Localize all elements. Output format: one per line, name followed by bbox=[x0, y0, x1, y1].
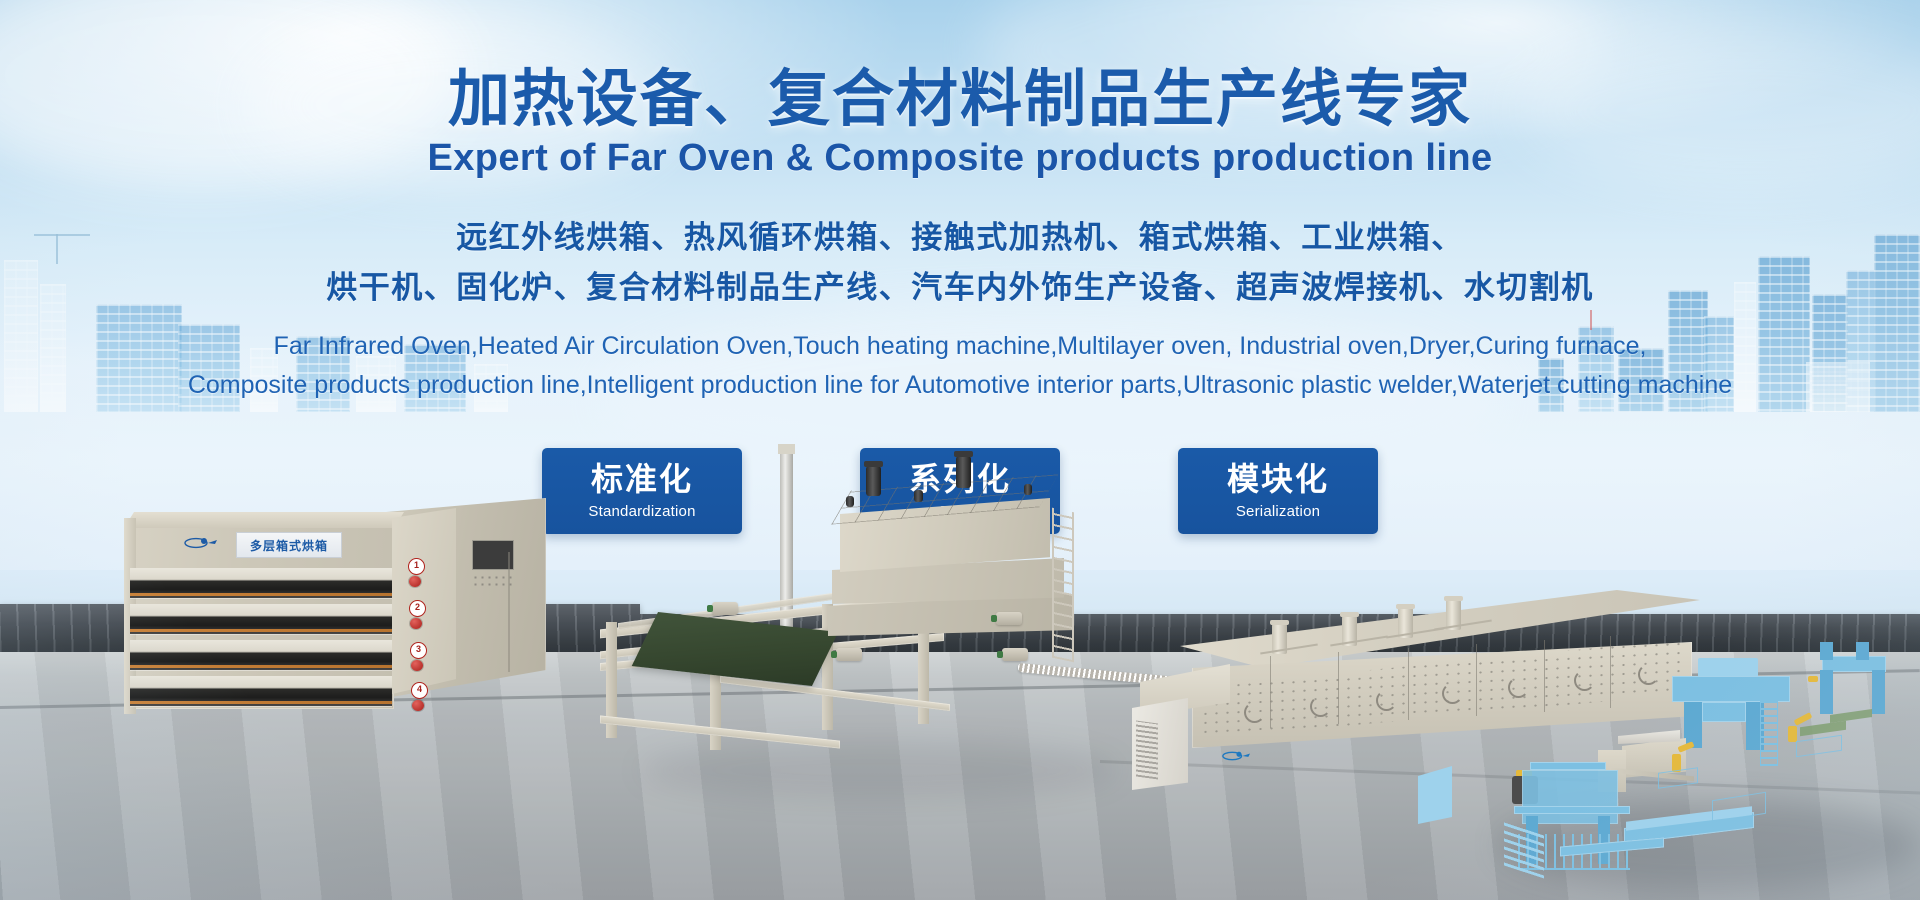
product-list-cn-line-2: 烘干机、固化炉、复合材料制品生产线、汽车内外饰生产设备、超声波焊接机、水切割机 bbox=[0, 264, 1920, 314]
product-list-english: Far Infrared Oven,Heated Air Circulation… bbox=[0, 327, 1920, 405]
gantry-post bbox=[1856, 642, 1869, 660]
press-bolt bbox=[914, 490, 923, 502]
green-conveyor-belt bbox=[632, 612, 839, 686]
press-column-cap bbox=[778, 444, 795, 454]
press-cylinder-cap bbox=[864, 461, 883, 467]
panel-divider bbox=[1476, 644, 1477, 716]
banner-text-block: 加热设备、复合材料制品生产线专家 Expert of Far Oven & Co… bbox=[0, 0, 1920, 405]
pallet-green bbox=[1800, 721, 1846, 736]
oven-knob-4[interactable] bbox=[412, 700, 424, 711]
press-and-conveyor-line bbox=[600, 452, 1120, 752]
badge-label-cn: 模块化 bbox=[1227, 462, 1329, 497]
oven-knob-1[interactable] bbox=[409, 576, 421, 587]
blue-press-crossbeam bbox=[1702, 702, 1746, 722]
brand-logo-icon bbox=[184, 536, 224, 550]
product-list-cn-line-1: 远红外线烘箱、热风循环烘箱、接触式加热机、箱式烘箱、工业烘箱、 bbox=[0, 214, 1920, 264]
oven-top-panel bbox=[124, 512, 404, 528]
oven-tray-slot bbox=[130, 676, 392, 706]
robot-arm-link bbox=[1808, 676, 1818, 682]
cabinet-grill bbox=[1136, 720, 1158, 779]
multilayer-box-oven: 多层箱式烘箱 1 2 3 4 bbox=[124, 512, 544, 722]
stair-tower bbox=[1760, 682, 1778, 766]
inspection-port bbox=[1376, 690, 1397, 711]
product-list-en-line-2: Composite products production line,Intel… bbox=[0, 366, 1920, 405]
oven-vent-holes bbox=[472, 574, 512, 588]
blue-staircase bbox=[1504, 820, 1544, 879]
oven-nameplate: 多层箱式烘箱 bbox=[236, 532, 342, 558]
robot-arm-link bbox=[1794, 712, 1813, 726]
oven-door-edge bbox=[508, 552, 510, 672]
headline-chinese: 加热设备、复合材料制品生产线专家 bbox=[0, 66, 1920, 131]
brand-logo-icon bbox=[1222, 750, 1256, 762]
hero-banner: 加热设备、复合材料制品生产线专家 Expert of Far Oven & Co… bbox=[0, 0, 1920, 900]
frame-bottom-rail bbox=[720, 676, 950, 711]
oven-knob-number-2: 2 bbox=[409, 600, 426, 617]
pallet-green bbox=[1830, 709, 1872, 723]
automation-line-blue bbox=[1500, 620, 1920, 900]
oven-tray-slot bbox=[130, 640, 392, 670]
drive-motor bbox=[836, 648, 862, 661]
drive-motor bbox=[712, 602, 738, 615]
press-cylinder-cap bbox=[954, 451, 973, 457]
wire-frame-fixture bbox=[1796, 735, 1842, 757]
oven-control-column bbox=[392, 508, 456, 694]
oven-tray-slot bbox=[130, 604, 392, 634]
inspection-port bbox=[1244, 702, 1265, 723]
inspection-port bbox=[1442, 683, 1463, 704]
oven-knob-number-4: 4 bbox=[411, 682, 428, 699]
wire-frame-fixture bbox=[1712, 792, 1766, 823]
oven-knob-number-1: 1 bbox=[408, 558, 425, 575]
oven-knob-3[interactable] bbox=[411, 660, 423, 671]
press-cylinder bbox=[866, 466, 881, 496]
drive-motor bbox=[1002, 648, 1028, 661]
badge-serialization[interactable]: 模块化 Serialization bbox=[1178, 448, 1378, 534]
gantry-post bbox=[1820, 642, 1833, 660]
product-list-en-line-1: Far Infrared Oven,Heated Air Circulation… bbox=[0, 327, 1920, 366]
blue-platform-rail bbox=[1514, 806, 1630, 814]
panel-divider bbox=[1338, 652, 1339, 724]
press-bolt bbox=[846, 496, 854, 507]
oven-tray-slot bbox=[130, 568, 392, 598]
blue-platform-deck bbox=[1530, 762, 1606, 770]
press-cylinder bbox=[956, 456, 971, 488]
gantry-leg bbox=[1820, 670, 1833, 714]
product-list-chinese: 远红外线烘箱、热风循环烘箱、接触式加热机、箱式烘箱、工业烘箱、 烘干机、固化炉、… bbox=[0, 214, 1920, 313]
oven-nameplate-text: 多层箱式烘箱 bbox=[250, 537, 328, 554]
panel-divider bbox=[1270, 656, 1271, 728]
headline-english: Expert of Far Oven & Composite products … bbox=[0, 137, 1920, 180]
inspection-port bbox=[1310, 696, 1331, 717]
drive-motor bbox=[996, 612, 1022, 625]
blue-panel-piece bbox=[1418, 766, 1452, 824]
access-ladder bbox=[1052, 508, 1074, 663]
panel-divider bbox=[1408, 648, 1409, 720]
blue-press-leg bbox=[1684, 702, 1702, 748]
press-bolt bbox=[1024, 484, 1032, 495]
robot-arm-base bbox=[1788, 726, 1797, 742]
oven-knob-number-3: 3 bbox=[410, 642, 427, 659]
oven-knob-2[interactable] bbox=[410, 618, 422, 629]
gantry-leg bbox=[1872, 670, 1885, 714]
badge-label-en: Serialization bbox=[1236, 503, 1320, 520]
